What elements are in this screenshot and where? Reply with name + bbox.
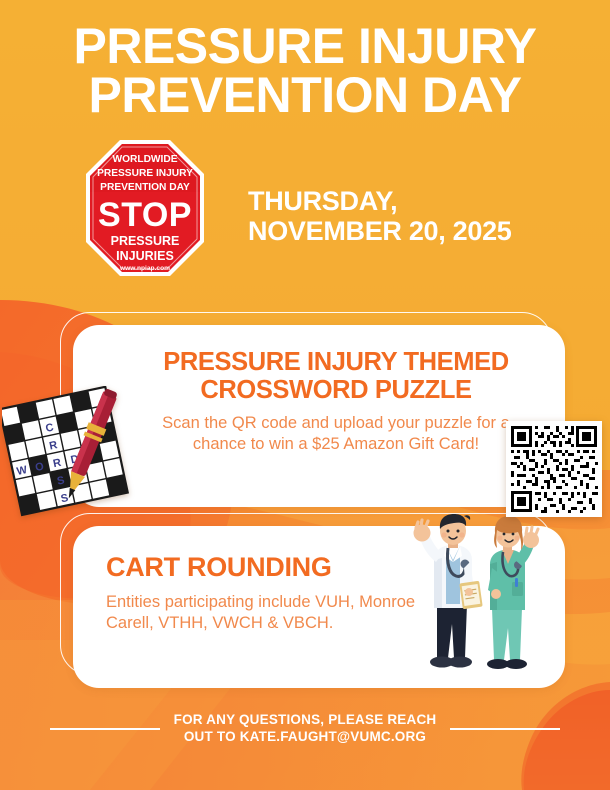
- crossword-title-line-2: CROSSWORD PUZZLE: [200, 376, 471, 404]
- logo-line-5: INJURIES: [116, 249, 174, 263]
- footer-contact: FOR ANY QUESTIONS, PLEASE REACH OUT TO K…: [0, 712, 610, 746]
- logo-line-3: PREVENTION DAY: [100, 182, 190, 193]
- cart-rounding-card-body: Entities participating include VUH, Monr…: [106, 592, 416, 635]
- logo-url: www.npiap.com: [119, 265, 170, 272]
- logo-line-4: PRESSURE: [111, 234, 180, 248]
- crossword-card-body: Scan the QR code and upload your puzzle …: [161, 413, 511, 455]
- logo-line-1: WORLDWIDE: [112, 154, 177, 165]
- page-title: PRESSURE INJURY PREVENTION DAY: [0, 22, 610, 120]
- doctor-figure: [414, 514, 483, 668]
- date-line-2: NOVEMBER 20, 2025: [248, 216, 512, 246]
- crossword-card-title: PRESSURE INJURY THEMED CROSSWORD PUZZLE: [121, 349, 551, 404]
- stop-sign-logo: WORLDWIDE PRESSURE INJURY PREVENTION DAY…: [84, 138, 206, 278]
- logo-line-2: PRESSURE INJURY: [97, 168, 193, 179]
- crossword-title-line-1: PRESSURE INJURY THEMED: [163, 348, 508, 376]
- title-line-2: PREVENTION DAY: [89, 67, 522, 123]
- nurse-figure: [487, 516, 539, 669]
- cart-rounding-card-title: CART ROUNDING: [106, 552, 332, 583]
- doctor-and-nurse-illustration: [404, 512, 550, 678]
- title-line-1: PRESSURE INJURY: [74, 18, 537, 74]
- footer-text: FOR ANY QUESTIONS, PLEASE REACH OUT TO K…: [174, 712, 437, 746]
- crossword-card: PRESSURE INJURY THEMED CROSSWORD PUZZLE …: [73, 325, 565, 507]
- poster-canvas: PRESSURE INJURY PREVENTION DAY WORLDWIDE…: [0, 0, 610, 790]
- footer-divider-left: [50, 728, 160, 730]
- event-date: THURSDAY, NOVEMBER 20, 2025: [248, 186, 512, 246]
- qr-code[interactable]: [506, 421, 602, 517]
- stop-sign-icon: WORLDWIDE PRESSURE INJURY PREVENTION DAY…: [84, 138, 206, 278]
- date-line-1: THURSDAY,: [248, 186, 512, 216]
- crossword-puzzle-icon: C R W O R D S S: [2, 386, 134, 518]
- footer-divider-right: [450, 728, 560, 730]
- logo-stop-word: STOP: [98, 196, 192, 234]
